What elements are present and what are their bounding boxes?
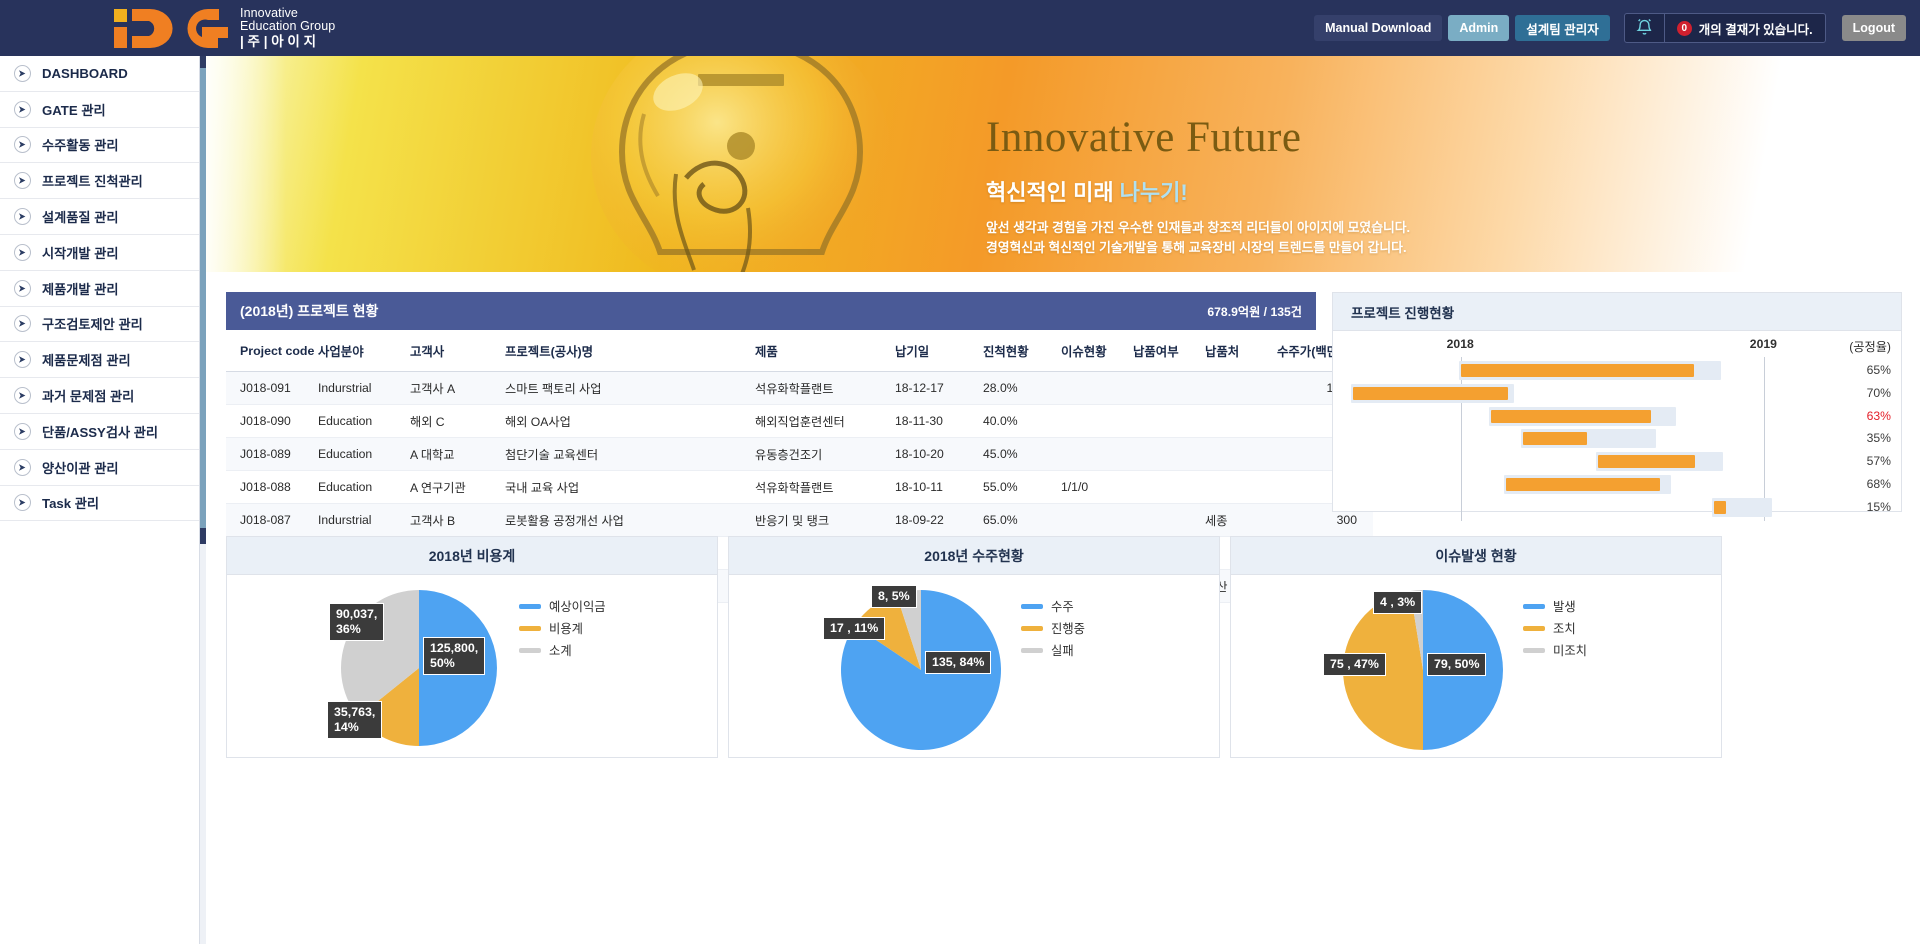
gantt-bar-fill (1491, 410, 1651, 423)
admin-button[interactable]: Admin (1448, 15, 1509, 41)
hero-subtitle-accent: 나누기! (1120, 180, 1188, 205)
sidebar-item-3[interactable]: 프로젝트 진척관리 (0, 163, 199, 199)
cell-progress: 45.0% (983, 438, 1061, 471)
gantt-progress-value: 15% (1845, 500, 1891, 514)
cell-delivered (1133, 405, 1205, 438)
sidebar-item-5[interactable]: 시작개발 관리 (0, 235, 199, 271)
logo-text-line1: Innovative (240, 7, 335, 21)
col-progress: 진척현황 (983, 330, 1061, 372)
legend-swatch-icon (1021, 626, 1043, 631)
hero-description-line2: 경영혁신과 혁신적인 기술개발을 통해 교육장비 시장의 트렌드를 만들어 갑니… (986, 238, 1410, 258)
legend-swatch-icon (519, 604, 541, 609)
bell-icon[interactable] (1625, 14, 1665, 42)
col-project-name: 프로젝트(공사)명 (505, 330, 755, 372)
cell-due-date: 18-10-20 (895, 438, 983, 471)
legend-label: 발생 (1553, 597, 1576, 615)
manual-download-button[interactable]: Manual Download (1314, 15, 1442, 41)
legend-item[interactable]: 예상이익금 (519, 597, 606, 615)
legend-swatch-icon (519, 648, 541, 653)
gantt-bar-fill (1353, 387, 1508, 400)
pie-data-label-2: 4 , 3% (1373, 591, 1422, 614)
cell-progress: 40.0% (983, 405, 1061, 438)
cell-place (1205, 438, 1277, 471)
project-panel-title: (2018년) 프로젝트 현황 (240, 301, 378, 321)
gantt-panel-header: 프로젝트 진행현황 (1333, 293, 1901, 331)
hero-left-fade (206, 56, 286, 272)
col-place: 납품처 (1205, 330, 1277, 372)
chevron-right-icon (14, 136, 31, 153)
cell-project-code: J018-091 (226, 372, 318, 405)
sidebar-item-8[interactable]: 제품문제점 관리 (0, 342, 199, 378)
table-row[interactable]: J018-090Education해외 C해외 OA사업해외직업훈련센터18-1… (226, 405, 1373, 438)
sidebar-nav: DASHBOARDGATE 관리수주활동 관리프로젝트 진척관리설계품질 관리시… (0, 56, 200, 944)
issues-pie-title: 이슈발생 현황 (1435, 546, 1516, 566)
hero-description-line1: 앞선 생각과 경험을 가진 우수한 인재들과 창조적 리더들이 아이지에 모였습… (986, 218, 1410, 238)
cell-product: 유동층건조기 (755, 438, 895, 471)
cell-product: 석유화학플랜트 (755, 471, 895, 504)
chevron-right-icon (14, 244, 31, 261)
sidebar-item-label: 양산이관 관리 (42, 458, 118, 477)
cell-project-name: 국내 교육 사업 (505, 471, 755, 504)
gantt-progress-value: 70% (1845, 386, 1891, 400)
gantt-value-header: (공정율) (1849, 337, 1891, 355)
sidebar-item-label: 수주활동 관리 (42, 135, 118, 154)
gantt-bar-fill (1523, 432, 1587, 445)
gantt-bar-fill (1461, 364, 1694, 377)
table-row[interactable]: J018-091Indurstrial고객사 A스마트 팩토리 사업석유화학플랜… (226, 372, 1373, 405)
cell-delivered (1133, 372, 1205, 405)
chevron-right-icon (14, 315, 31, 332)
sidebar-item-0[interactable]: DASHBOARD (0, 56, 199, 92)
cell-due-date: 18-09-22 (895, 504, 983, 537)
cell-progress: 55.0% (983, 471, 1061, 504)
sidebar-item-label: 제품문제점 관리 (42, 350, 131, 369)
orders-pie-body: 수주진행중실패135, 84%17 , 11%8, 5% (729, 575, 1219, 758)
gantt-axis-tick-2019: 2019 (1750, 337, 1777, 351)
legend-swatch-icon (1523, 626, 1545, 631)
col-issue: 이슈현황 (1061, 330, 1133, 372)
legend-item[interactable]: 조치 (1523, 619, 1587, 637)
cell-project-name: 스마트 팩토리 사업 (505, 372, 755, 405)
chevron-right-icon (14, 387, 31, 404)
pie-data-label-1: 17 , 11% (823, 617, 885, 640)
sidebar-item-label: 구조검토제안 관리 (42, 314, 143, 333)
cell-progress: 65.0% (983, 504, 1061, 537)
cell-product: 해외직업훈련센터 (755, 405, 895, 438)
legend-item[interactable]: 실패 (1021, 641, 1085, 659)
cell-customer: A 대학교 (410, 438, 505, 471)
sidebar-item-label: 설계품질 관리 (42, 207, 118, 226)
issues-pie-panel: 이슈발생 현황 발생조치미조치79, 50%75 , 47%4 , 3% (1230, 536, 1722, 758)
cell-business-field: Indurstrial (318, 504, 410, 537)
cell-customer: 고객사 A (410, 372, 505, 405)
legend-item[interactable]: 진행중 (1021, 619, 1085, 637)
gantt-progress-value: 63% (1845, 409, 1891, 423)
chevron-right-icon (14, 172, 31, 189)
gantt-bar-fill (1598, 455, 1695, 468)
sidebar-item-label: 과거 문제점 관리 (42, 386, 134, 405)
pie-data-label-0: 125,800, 50% (423, 637, 485, 675)
cell-delivered (1133, 438, 1205, 471)
project-panel-header: (2018년) 프로젝트 현황 678.9억원 / 135건 (226, 292, 1316, 330)
chevron-right-icon (14, 208, 31, 225)
cell-issue (1061, 405, 1133, 438)
sidebar-item-1[interactable]: GATE 관리 (0, 92, 199, 128)
chevron-right-icon (14, 423, 31, 440)
legend-swatch-icon (519, 626, 541, 631)
cell-due-date: 18-12-17 (895, 372, 983, 405)
sidebar-item-2[interactable]: 수주활동 관리 (0, 128, 199, 164)
project-table-head: Project code 사업분야 고객사 프로젝트(공사)명 제품 납기일 진… (226, 330, 1373, 372)
pie-data-label-0: 79, 50% (1427, 653, 1486, 676)
issues-pie-legend: 발생조치미조치 (1523, 597, 1587, 663)
pie-data-label-1: 35,763, 14% (327, 701, 382, 739)
sidebar-item-label: Task 관리 (42, 493, 99, 512)
sidebar-item-label: 제품개발 관리 (42, 279, 118, 298)
sidebar-item-11[interactable]: 양산이관 관리 (0, 450, 199, 486)
project-progress-panel: 프로젝트 진행현황 20182019(공정율)65%70%63%35%57%68… (1332, 292, 1902, 512)
table-row[interactable]: J018-087Indurstrial고객사 B로봇활용 공정개선 사업반응기 … (226, 504, 1373, 537)
legend-swatch-icon (1021, 604, 1043, 609)
sidebar-item-label: DASHBOARD (42, 66, 128, 81)
cell-due-date: 18-11-30 (895, 405, 983, 438)
col-project-code: Project code (226, 330, 318, 372)
col-delivered: 납품여부 (1133, 330, 1205, 372)
chevron-right-icon (14, 101, 31, 118)
cell-progress: 28.0% (983, 372, 1061, 405)
legend-label: 소계 (549, 641, 572, 659)
chevron-right-icon (14, 65, 31, 82)
cell-business-field: Indurstrial (318, 372, 410, 405)
legend-label: 미조치 (1553, 641, 1587, 659)
cell-business-field: Education (318, 405, 410, 438)
gantt-chart: 20182019(공정율)65%70%63%35%57%68%15% (1333, 331, 1901, 511)
legend-item[interactable]: 수주 (1021, 597, 1085, 615)
project-panel-summary: 678.9억원 / 135건 (1207, 302, 1302, 320)
sidebar-item-4[interactable]: 설계품질 관리 (0, 199, 199, 235)
legend-swatch-icon (1523, 648, 1545, 653)
gantt-progress-value: 65% (1845, 363, 1891, 377)
legend-item[interactable]: 비용계 (519, 619, 606, 637)
cell-due-date: 18-10-11 (895, 471, 983, 504)
cell-business-field: Education (318, 438, 410, 471)
table-row[interactable]: J018-089EducationA 대학교첨단기술 교육센터유동층건조기18-… (226, 438, 1373, 471)
gantt-progress-value: 57% (1845, 454, 1891, 468)
issues-pie-body: 발생조치미조치79, 50%75 , 47%4 , 3% (1231, 575, 1721, 758)
approval-notice-text: 개의 결재가 있습니다. (1699, 19, 1813, 38)
orders-pie-header: 2018년 수주현황 (729, 537, 1219, 575)
cell-place (1205, 405, 1277, 438)
legend-label: 실패 (1051, 641, 1074, 659)
brand-logo[interactable]: Innovative Education Group | 주 | 아 이 지 (112, 7, 335, 50)
col-product: 제품 (755, 330, 895, 372)
header-actions: Manual Download Admin 설계팀 관리자 0 개의 결재가 있… (1314, 13, 1906, 43)
cost-pie-title: 2018년 비용계 (429, 546, 516, 566)
pie-data-label-2: 8, 5% (871, 585, 917, 608)
lightbulb-illustration (526, 56, 956, 272)
chevron-right-icon (14, 459, 31, 476)
cell-project-name: 해외 OA사업 (505, 405, 755, 438)
approval-count-badge: 0 (1677, 21, 1692, 36)
sidebar-item-10[interactable]: 단품/ASSY검사 관리 (0, 414, 199, 450)
logout-button[interactable]: Logout (1842, 15, 1906, 41)
legend-label: 수주 (1051, 597, 1074, 615)
gantt-progress-value: 68% (1845, 477, 1891, 491)
chevron-right-icon (14, 351, 31, 368)
gantt-gridline-0 (1461, 357, 1462, 521)
orders-pie-title: 2018년 수주현황 (924, 546, 1023, 566)
logo-text-line2: Education Group (240, 20, 335, 34)
sidebar-item-6[interactable]: 제품개발 관리 (0, 271, 199, 307)
legend-swatch-icon (1021, 648, 1043, 653)
pie-data-label-2: 90,037, 36% (329, 603, 384, 641)
cost-pie-legend: 예상이익금비용계소계 (519, 597, 606, 663)
hero-banner: Innovative Future 혁신적인 미래 나누기! 앞선 생각과 경험… (206, 56, 1920, 272)
cell-issue (1061, 372, 1133, 405)
sidebar-item-9[interactable]: 과거 문제점 관리 (0, 378, 199, 414)
pie-data-label-0: 135, 84% (925, 651, 991, 674)
cell-product: 석유화학플랜트 (755, 372, 895, 405)
cell-issue (1061, 438, 1133, 471)
cell-project-name: 로봇활용 공정개선 사업 (505, 504, 755, 537)
legend-item[interactable]: 발생 (1523, 597, 1587, 615)
cell-customer: A 연구기관 (410, 471, 505, 504)
idg-logo-icon (112, 7, 230, 49)
gantt-axis-tick-2018: 2018 (1447, 337, 1474, 351)
col-field: 사업분야 (318, 330, 410, 372)
cell-place: 세종 (1205, 504, 1277, 537)
sidebar-item-label: GATE 관리 (42, 100, 106, 119)
cell-project-name: 첨단기술 교육센터 (505, 438, 755, 471)
sidebar-item-label: 프로젝트 진척관리 (42, 171, 143, 190)
gantt-panel-title: 프로젝트 진행현황 (1351, 302, 1454, 322)
hero-description: 앞선 생각과 경험을 가진 우수한 인재들과 창조적 리더들이 아이지에 모였습… (986, 218, 1410, 258)
legend-swatch-icon (1523, 604, 1545, 609)
chevron-right-icon (14, 280, 31, 297)
approval-notice[interactable]: 0 개의 결재가 있습니다. (1624, 13, 1826, 43)
cell-product: 반응기 및 탱크 (755, 504, 895, 537)
gantt-bar-fill (1714, 501, 1726, 514)
cell-issue (1061, 504, 1133, 537)
cost-pie-header: 2018년 비용계 (227, 537, 717, 575)
cell-project-code: J018-087 (226, 504, 318, 537)
main-content: Innovative Future 혁신적인 미래 나누기! 앞선 생각과 경험… (206, 56, 1920, 944)
legend-item[interactable]: 소계 (519, 641, 606, 659)
legend-item[interactable]: 미조치 (1523, 641, 1587, 659)
orders-pie-panel: 2018년 수주현황 수주진행중실패135, 84%17 , 11%8, 5% (728, 536, 1220, 758)
sidebar-item-7[interactable]: 구조검토제안 관리 (0, 307, 199, 343)
cell-place (1205, 372, 1277, 405)
gantt-gridline-1 (1764, 357, 1765, 521)
cost-pie-body: 예상이익금비용계소계125,800, 50%35,763, 14%90,037,… (227, 575, 717, 758)
hero-subtitle: 혁신적인 미래 나누기! (986, 175, 1410, 207)
cell-customer: 해외 C (410, 405, 505, 438)
sidebar-item-12[interactable]: Task 관리 (0, 486, 199, 522)
table-row[interactable]: J018-088EducationA 연구기관국내 교육 사업석유화학플랜트18… (226, 471, 1373, 504)
legend-label: 조치 (1553, 619, 1576, 637)
hero-subtitle-main: 혁신적인 미래 (986, 180, 1120, 205)
cell-delivered (1133, 504, 1205, 537)
chevron-right-icon (14, 494, 31, 511)
logo-text-line3: | 주 | 아 이 지 (240, 35, 335, 50)
col-customer: 고객사 (410, 330, 505, 372)
sidebar-item-label: 시작개발 관리 (42, 243, 118, 262)
orders-pie-legend: 수주진행중실패 (1021, 597, 1085, 663)
design-team-manager-button[interactable]: 설계팀 관리자 (1515, 15, 1609, 41)
cell-place (1205, 471, 1277, 504)
cost-pie-panel: 2018년 비용계 예상이익금비용계소계125,800, 50%35,763, … (226, 536, 718, 758)
cell-issue: 1/1/0 (1061, 471, 1133, 504)
top-header-bar: Innovative Education Group | 주 | 아 이 지 M… (0, 0, 1920, 56)
sidebar-item-label: 단품/ASSY검사 관리 (42, 422, 158, 441)
project-table-header-row: Project code 사업분야 고객사 프로젝트(공사)명 제품 납기일 진… (226, 330, 1373, 372)
hero-text-block: Innovative Future 혁신적인 미래 나누기! 앞선 생각과 경험… (986, 116, 1410, 258)
cell-project-code: J018-090 (226, 405, 318, 438)
legend-label: 비용계 (549, 619, 583, 637)
hero-title: Innovative Future (986, 116, 1410, 159)
col-due-date: 납기일 (895, 330, 983, 372)
gantt-progress-value: 35% (1845, 431, 1891, 445)
legend-label: 진행중 (1051, 619, 1085, 637)
cell-business-field: Education (318, 471, 410, 504)
pie-data-label-1: 75 , 47% (1323, 653, 1386, 676)
issues-pie-header: 이슈발생 현황 (1231, 537, 1721, 575)
gantt-bar-fill (1506, 478, 1661, 491)
cell-project-code: J018-088 (226, 471, 318, 504)
legend-label: 예상이익금 (549, 597, 606, 615)
cell-delivered (1133, 471, 1205, 504)
cell-customer: 고객사 B (410, 504, 505, 537)
cell-project-code: J018-089 (226, 438, 318, 471)
